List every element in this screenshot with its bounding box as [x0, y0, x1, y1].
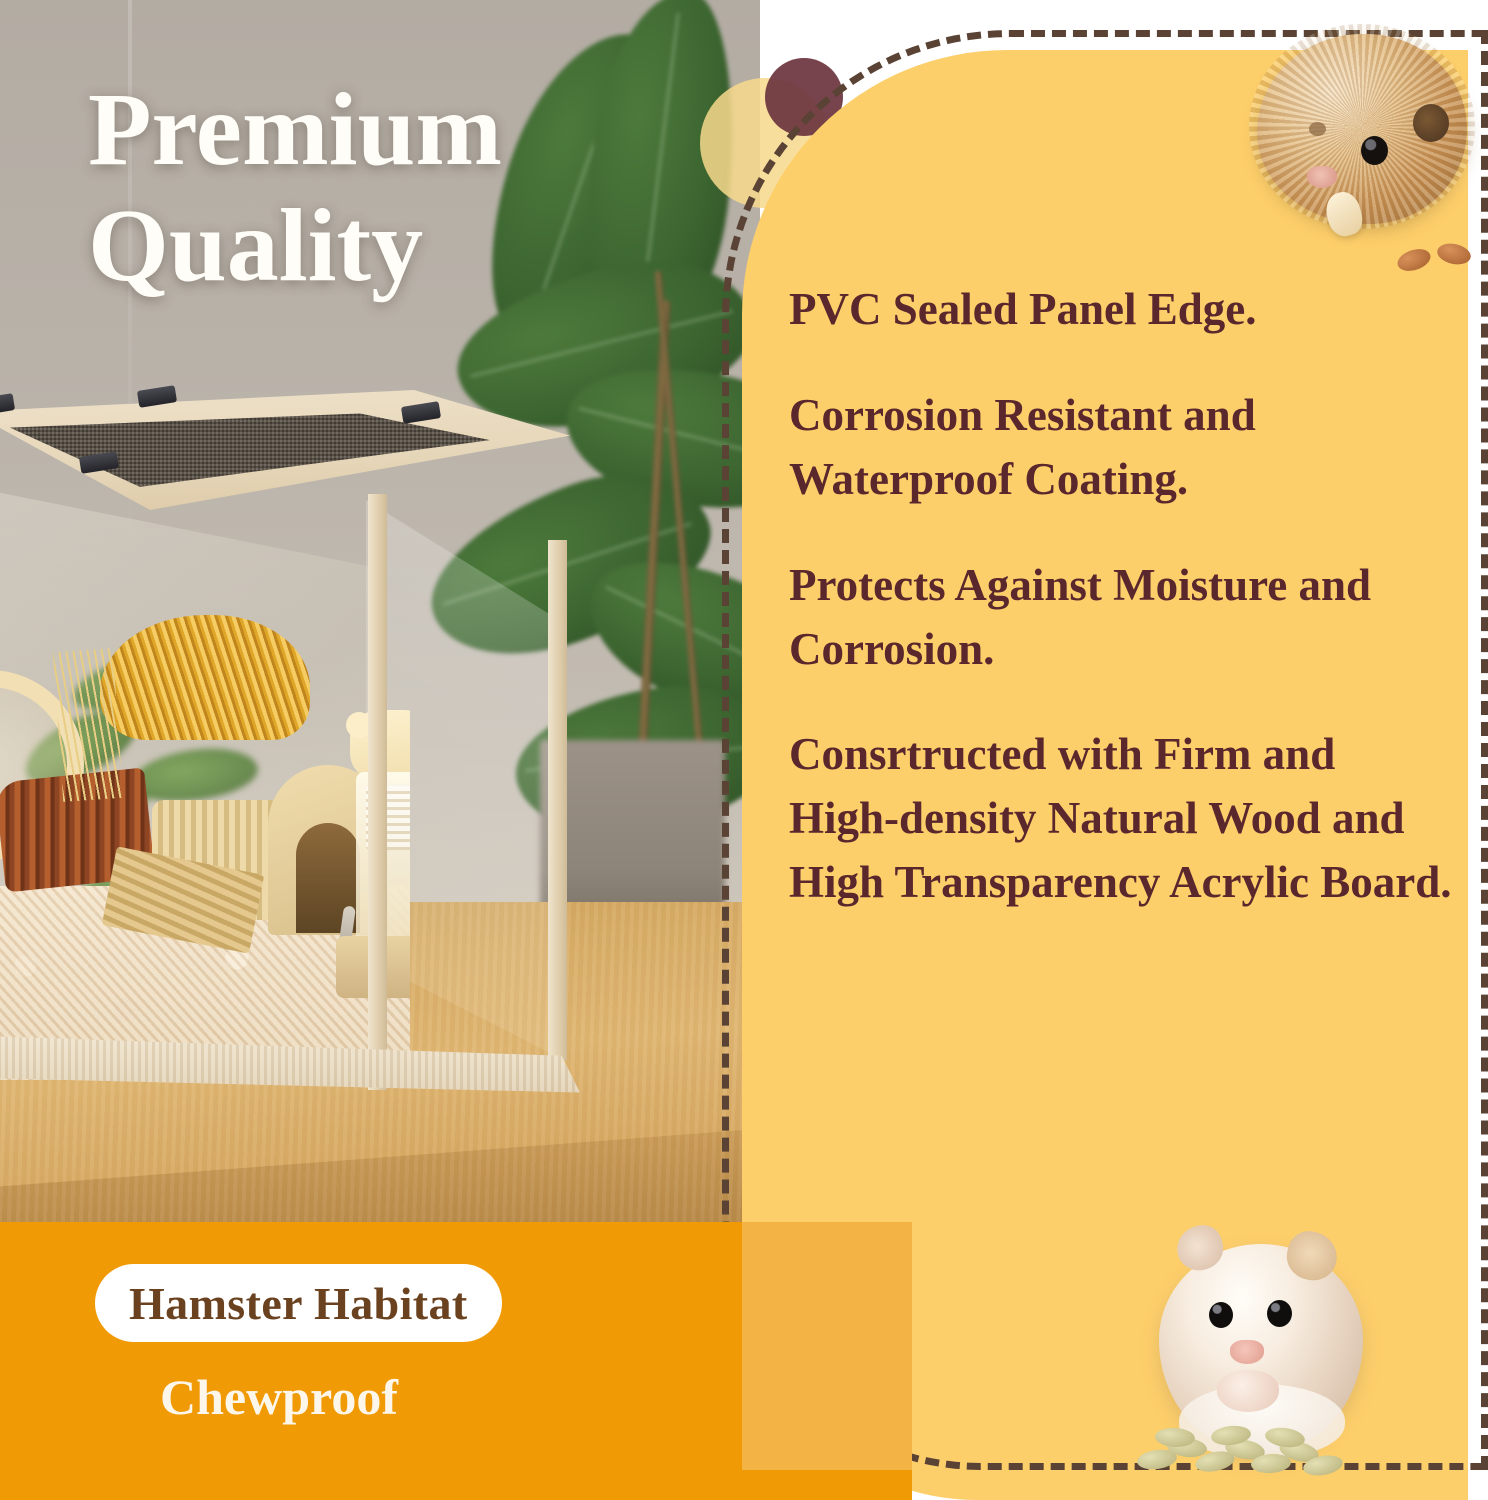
title-line-1: Premium	[88, 72, 502, 187]
hamster-nose	[1307, 166, 1337, 188]
seed	[1435, 241, 1472, 268]
feature-item: PVC Sealed Panel Edge.	[789, 278, 1454, 342]
seed	[1395, 245, 1434, 275]
wheat-stalks	[53, 648, 123, 802]
infographic-canvas: PVC Sealed Panel Edge. Corrosion Resista…	[0, 0, 1488, 1500]
hamster-eye-far	[1309, 122, 1326, 136]
banner-subtitle: Chewproof	[160, 1368, 398, 1426]
cage-corner-post-right	[548, 540, 567, 1060]
hamster-eye	[1361, 136, 1388, 165]
feature-item: Corrosion Resistant and Waterproof Coati…	[789, 384, 1454, 512]
hamster-nose	[1230, 1340, 1264, 1364]
cage-corner-post-front	[368, 494, 387, 1090]
hamster-with-seeds-icon	[1135, 1218, 1435, 1500]
page-title: Premium Quality	[88, 72, 688, 305]
feature-item: Protects Against Moisture and Corrosion.	[789, 554, 1454, 682]
cage-interior	[0, 560, 410, 1080]
hamster-eye-right	[1267, 1300, 1292, 1327]
title-line-2: Quality	[88, 188, 688, 304]
pumpkin-seed-pile	[1137, 1424, 1347, 1480]
hamster-cage-product	[0, 390, 610, 1150]
hamster-eating-icon	[1235, 18, 1488, 278]
hamster-ear	[1413, 104, 1449, 142]
hay-pile	[100, 615, 310, 740]
hamster-paws	[1217, 1370, 1279, 1412]
hamster-eye-left	[1209, 1302, 1233, 1328]
feature-item: Consrtructed with Firm and High-density …	[789, 723, 1454, 915]
feature-list: PVC Sealed Panel Edge. Corrosion Resista…	[789, 278, 1454, 915]
banner-panel-overlap	[742, 1222, 912, 1470]
product-name-badge: Hamster Habitat	[95, 1264, 502, 1342]
